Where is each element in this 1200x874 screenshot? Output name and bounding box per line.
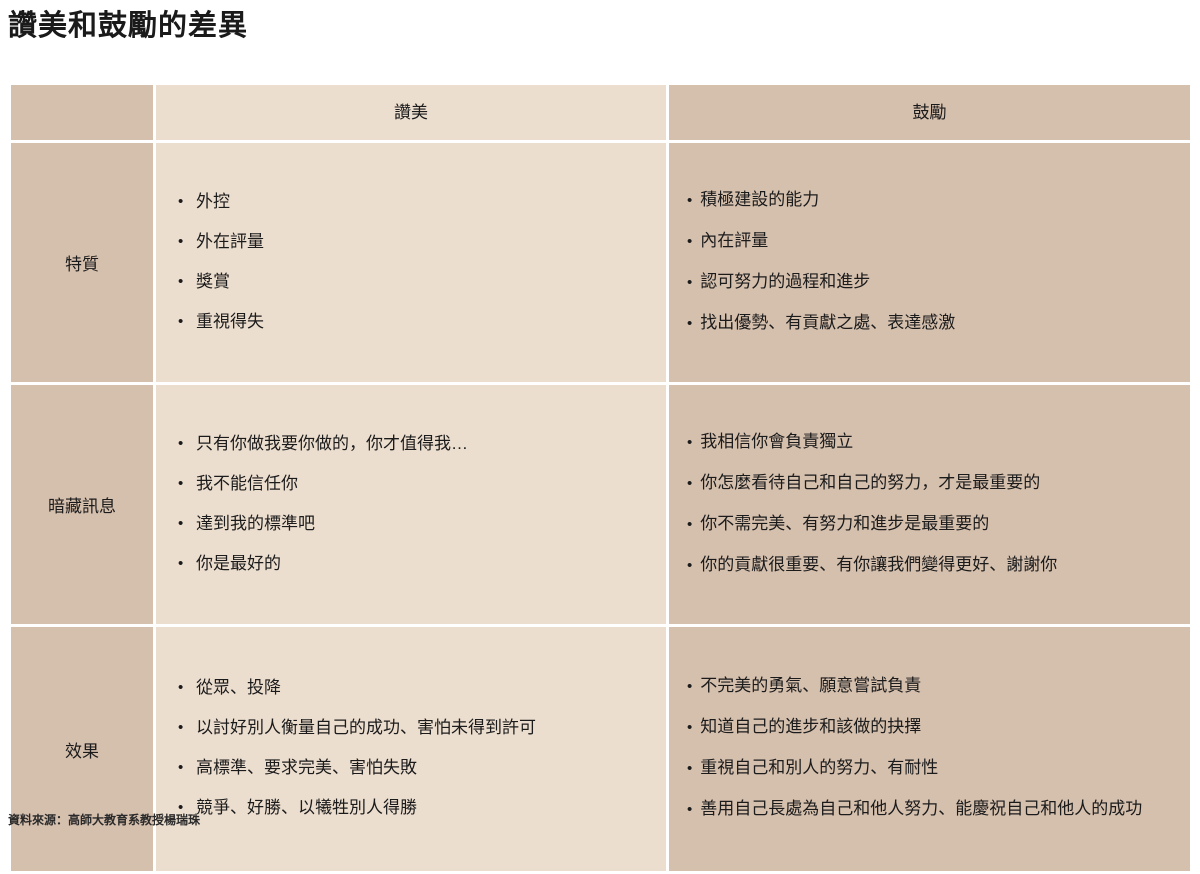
column-header-praise: 讚美 — [156, 85, 666, 140]
cell-encouragement-effect: 不完美的勇氣、願意嘗試負責 知道自己的進步和該做的抉擇 重視自己和別人的努力、有… — [669, 627, 1190, 871]
list-item: 重視得失 — [174, 302, 648, 342]
table-row: 特質 外控 外在評量 獎賞 重視得失 積極建設的能力 內在評量 認可努力的過程和… — [11, 143, 1190, 382]
list-item: 外控 — [174, 182, 648, 222]
bullet-list: 我相信你會負責獨立 你怎麼看待自己和自己的努力，才是最重要的 你不需完美、有努力… — [687, 422, 1172, 586]
cell-encouragement-trait: 積極建設的能力 內在評量 認可努力的過程和進步 找出優勢、有貢獻之處、表達感激 — [669, 143, 1190, 382]
list-item: 知道自己的進步和該做的抉擇 — [687, 707, 1172, 748]
list-item: 你不需完美、有努力和進步是最重要的 — [687, 504, 1172, 545]
list-item: 我不能信任你 — [174, 464, 648, 504]
list-item: 善用自己長處為自己和他人努力、能慶祝自己和他人的成功 — [687, 789, 1172, 830]
table-header-row: 讚美 鼓勵 — [11, 85, 1190, 140]
list-item: 只有你做我要你做的，你才值得我… — [174, 424, 648, 464]
list-item: 你怎麼看待自己和自己的努力，才是最重要的 — [687, 463, 1172, 504]
bullet-list: 只有你做我要你做的，你才值得我… 我不能信任你 達到我的標準吧 你是最好的 — [174, 424, 648, 584]
cell-encouragement-hidden-message: 我相信你會負責獨立 你怎麼看待自己和自己的努力，才是最重要的 你不需完美、有努力… — [669, 385, 1190, 624]
list-item: 獎賞 — [174, 262, 648, 302]
row-label-trait: 特質 — [11, 143, 153, 382]
cell-praise-effect: 從眾、投降 以討好別人衡量自己的成功、害怕未得到許可 高標準、要求完美、害怕失敗… — [156, 627, 666, 871]
column-header-encouragement: 鼓勵 — [669, 85, 1190, 140]
list-item: 認可努力的過程和進步 — [687, 262, 1172, 303]
page-title: 讚美和鼓勵的差異 — [8, 6, 248, 46]
cell-praise-trait: 外控 外在評量 獎賞 重視得失 — [156, 143, 666, 382]
list-item: 競爭、好勝、以犧牲別人得勝 — [174, 788, 648, 828]
row-label-hidden-message: 暗藏訊息 — [11, 385, 153, 624]
bullet-list: 不完美的勇氣、願意嘗試負責 知道自己的進步和該做的抉擇 重視自己和別人的努力、有… — [687, 666, 1172, 830]
list-item: 高標準、要求完美、害怕失敗 — [174, 748, 648, 788]
cell-praise-hidden-message: 只有你做我要你做的，你才值得我… 我不能信任你 達到我的標準吧 你是最好的 — [156, 385, 666, 624]
list-item: 積極建設的能力 — [687, 180, 1172, 221]
bullet-list: 積極建設的能力 內在評量 認可努力的過程和進步 找出優勢、有貢獻之處、表達感激 — [687, 180, 1172, 344]
list-item: 找出優勢、有貢獻之處、表達感激 — [687, 303, 1172, 344]
source-note: 資料來源：高師大教育系教授楊瑞珠 — [8, 812, 200, 828]
list-item: 內在評量 — [687, 221, 1172, 262]
list-item: 不完美的勇氣、願意嘗試負責 — [687, 666, 1172, 707]
praise-vs-encouragement-table: 讚美 鼓勵 特質 外控 外在評量 獎賞 重視得失 積極建設的能力 — [8, 82, 1193, 874]
list-item: 重視自己和別人的努力、有耐性 — [687, 748, 1172, 789]
list-item: 從眾、投降 — [174, 668, 648, 708]
bullet-list: 外控 外在評量 獎賞 重視得失 — [174, 182, 648, 342]
bullet-list: 從眾、投降 以討好別人衡量自己的成功、害怕未得到許可 高標準、要求完美、害怕失敗… — [174, 668, 648, 828]
table-row: 效果 從眾、投降 以討好別人衡量自己的成功、害怕未得到許可 高標準、要求完美、害… — [11, 627, 1190, 871]
list-item: 我相信你會負責獨立 — [687, 422, 1172, 463]
list-item: 外在評量 — [174, 222, 648, 262]
slide-page: 讚美和鼓勵的差異 讚美 鼓勵 特質 外控 外在評量 獎賞 — [0, 0, 1200, 840]
list-item: 達到我的標準吧 — [174, 504, 648, 544]
row-label-effect: 效果 — [11, 627, 153, 871]
list-item: 你的貢獻很重要、有你讓我們變得更好、謝謝你 — [687, 545, 1172, 586]
list-item: 你是最好的 — [174, 544, 648, 584]
table-row: 暗藏訊息 只有你做我要你做的，你才值得我… 我不能信任你 達到我的標準吧 你是最… — [11, 385, 1190, 624]
list-item: 以討好別人衡量自己的成功、害怕未得到許可 — [174, 708, 648, 748]
table-corner-cell — [11, 85, 153, 140]
